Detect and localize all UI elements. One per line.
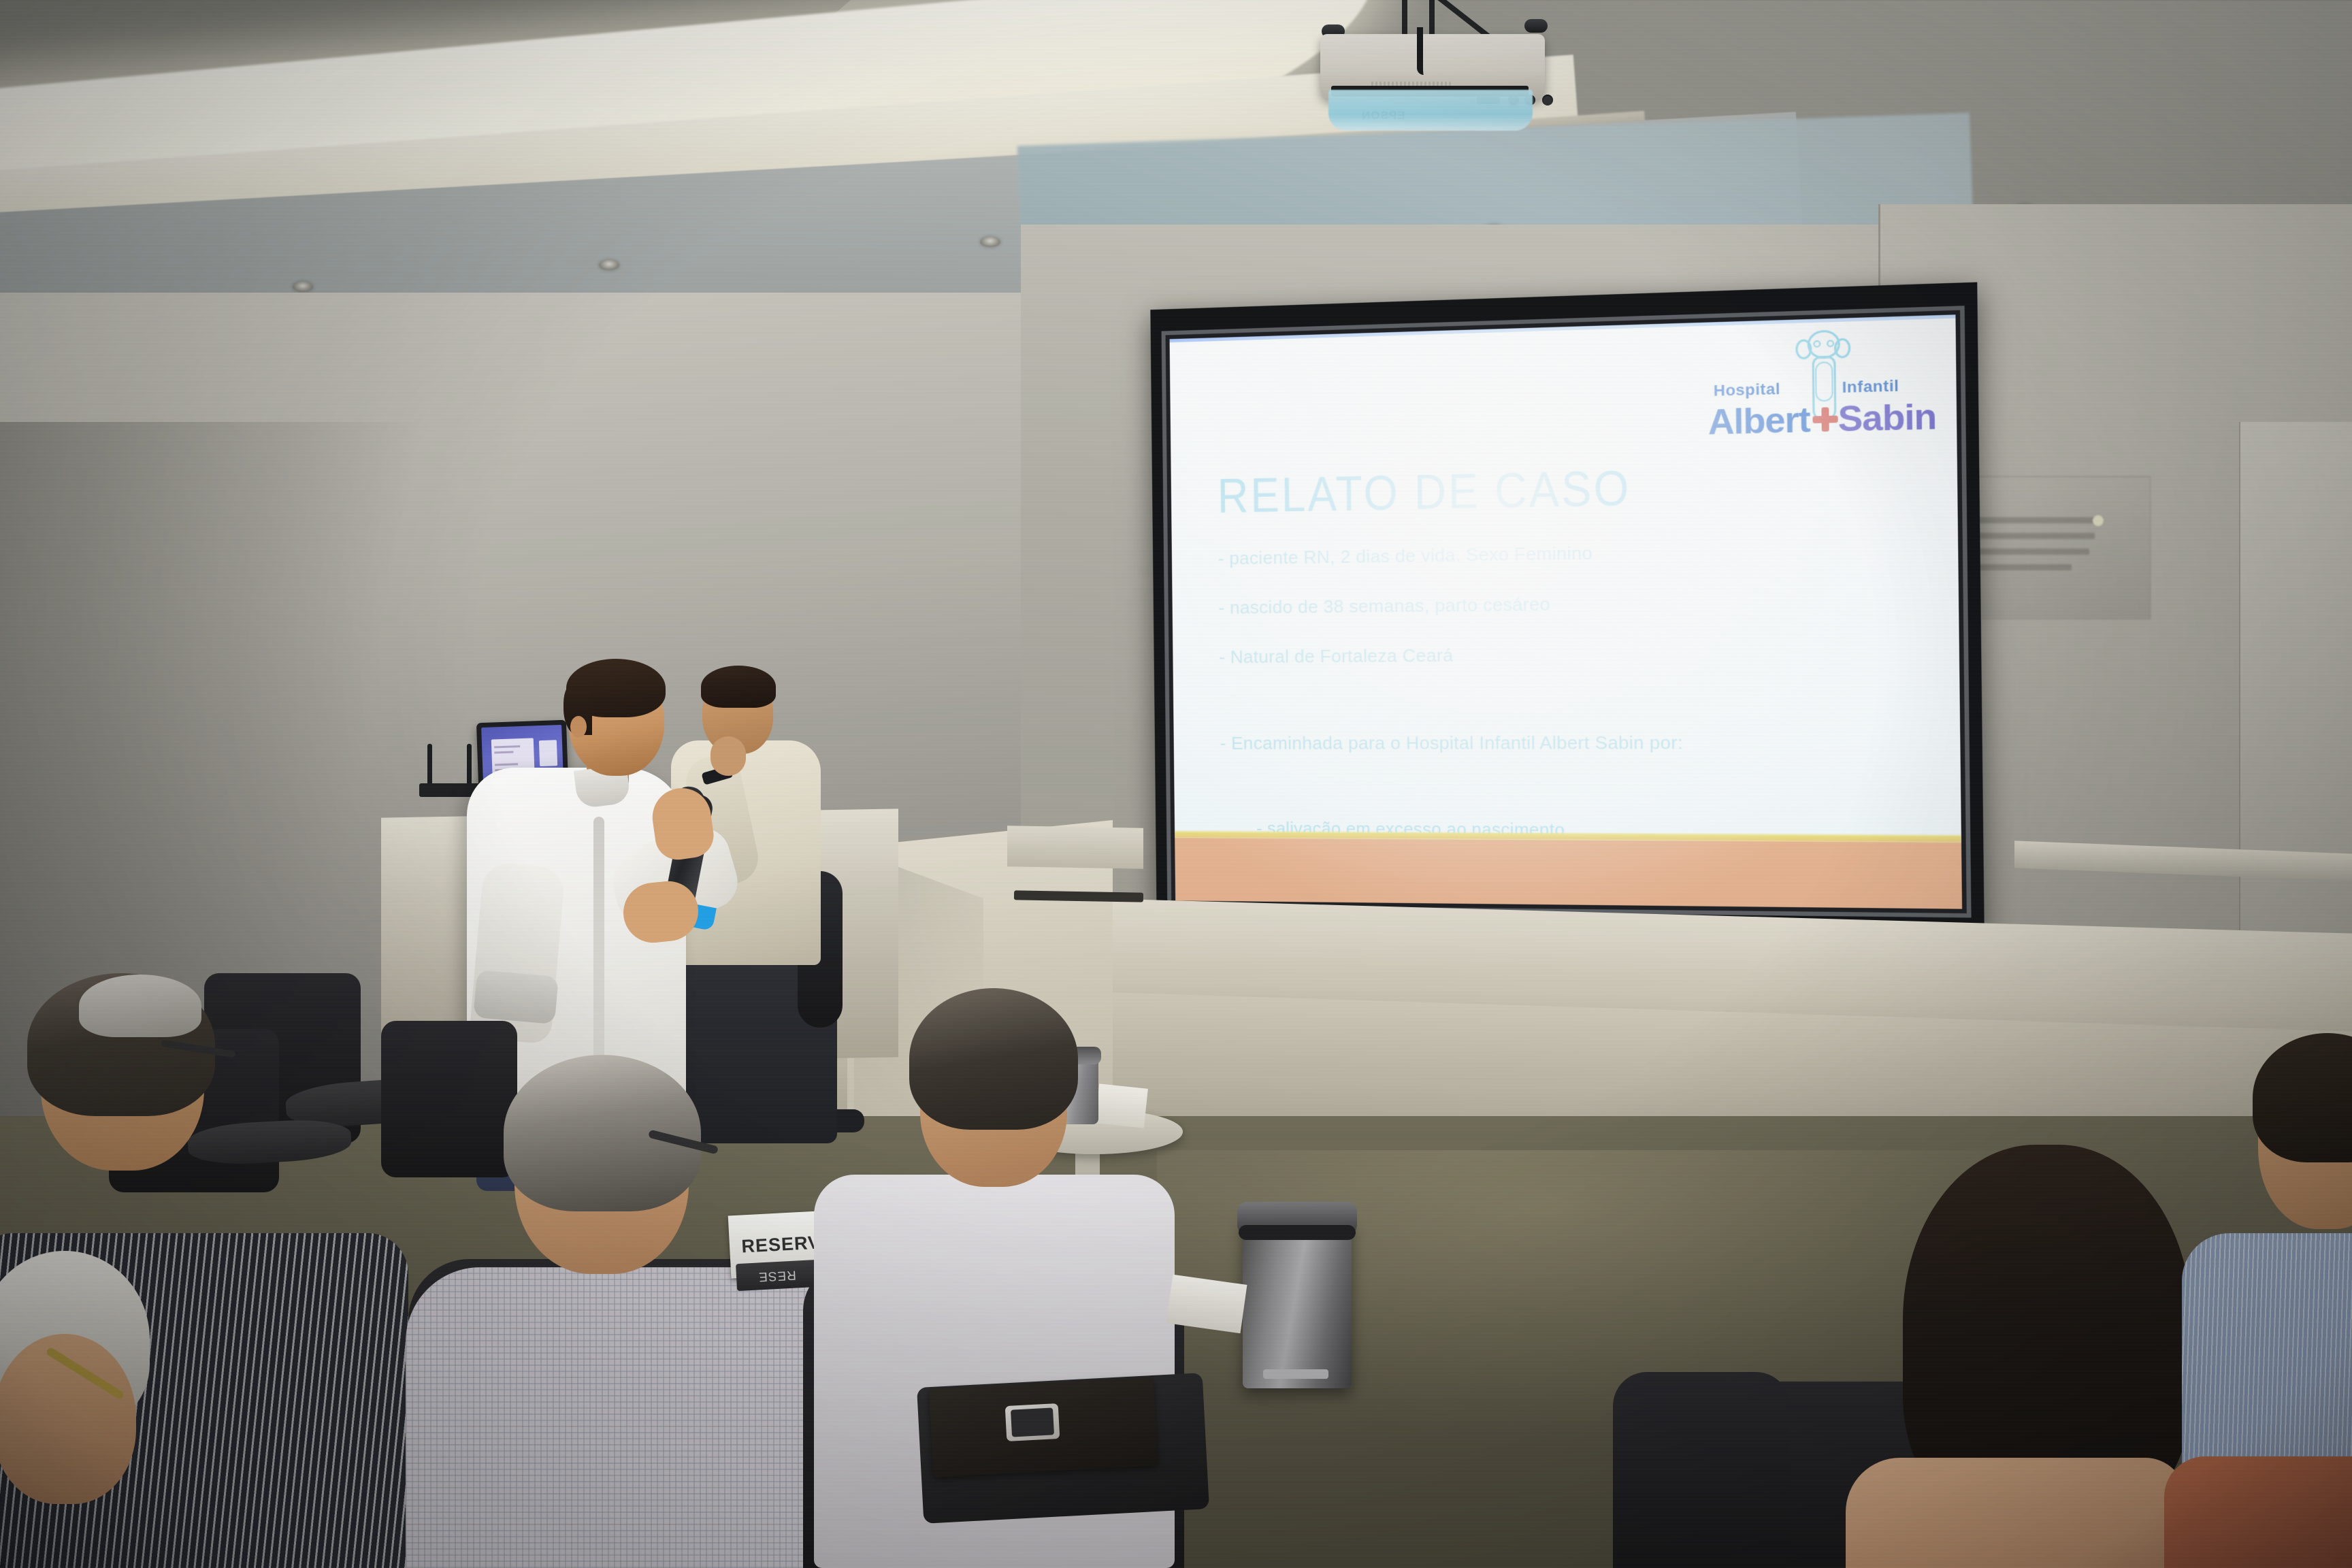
presentation-slide: Hospital Infantil Albert Sabin RELATO DE… — [1170, 314, 1962, 909]
slide-bullet: - Natural de Fortaleza Ceará — [1219, 642, 1891, 666]
audience-member-shoulder — [1846, 1458, 2186, 1568]
slide-bullet: - paciente RN, 2 dias de vida. Sexo Femi… — [1218, 539, 1891, 567]
logo-sabin-word: Sabin — [1837, 396, 1936, 440]
seated-man-hair — [701, 666, 776, 708]
empty-chair[interactable] — [381, 1021, 517, 1177]
downlight-icon — [293, 282, 313, 292]
smartphone-screen — [1011, 1407, 1054, 1437]
projector-mount-rod — [1429, 0, 1435, 37]
auditorium-photo: EPSON — [0, 0, 2352, 1568]
laptop-window — [539, 740, 557, 766]
audience-member-hair-grey — [79, 975, 201, 1037]
stage-side-panel — [1007, 826, 1143, 868]
logo-hospital-word: Hospital — [1714, 380, 1780, 400]
slide-bullet: - Encaminhada para o Hospital Infantil A… — [1220, 733, 1892, 752]
screen-inner-bezel: Hospital Infantil Albert Sabin RELATO DE… — [1166, 310, 1967, 913]
plaque-screw-icon — [2093, 515, 2104, 526]
presenter-ear — [570, 716, 587, 738]
audience-member-hair — [909, 988, 1078, 1130]
hospital-logo: Hospital Infantil Albert Sabin — [1707, 327, 1931, 461]
trash-bin-pedal[interactable] — [1263, 1369, 1328, 1379]
projection-screen: Hospital Infantil Albert Sabin RELATO DE… — [1150, 282, 1984, 932]
medical-cross-icon — [1812, 407, 1838, 432]
audio-port-icon — [1542, 95, 1553, 105]
seated-man-hand — [710, 736, 746, 776]
papers — [1166, 1275, 1247, 1334]
trash-bin-ring — [1239, 1225, 1356, 1240]
router-antenna-icon — [467, 744, 472, 786]
audience-member-shoulder — [2164, 1456, 2352, 1568]
downlight-icon — [599, 260, 619, 270]
router-antenna-icon — [427, 744, 432, 786]
projector-knob — [1524, 19, 1548, 33]
presenter-rolled-cuff — [473, 970, 559, 1024]
slide-footer-band — [1175, 838, 1962, 909]
reserved-seat-card-back: RESE — [736, 1260, 819, 1291]
logo-albert-word: Albert — [1708, 399, 1810, 442]
projector-mount-rod — [1402, 0, 1407, 37]
projector-lens-glow — [1328, 90, 1533, 131]
downlight-icon — [980, 237, 1000, 247]
logo-infantil-word: Infantil — [1842, 377, 1899, 397]
audience-member-hair — [504, 1055, 701, 1211]
reserved-seat-label-back: RESE — [758, 1267, 797, 1284]
slide-bullet: - nascido de 38 semanas, parto cesáreo — [1218, 591, 1891, 617]
trash-bin — [1243, 1217, 1352, 1388]
projector-cable — [1417, 27, 1424, 75]
slide-title: RELATO DE CASO — [1217, 460, 1631, 524]
projector: EPSON — [1293, 0, 1579, 152]
napkin — [1095, 1083, 1148, 1128]
audience-chair[interactable] — [1613, 1372, 1790, 1568]
